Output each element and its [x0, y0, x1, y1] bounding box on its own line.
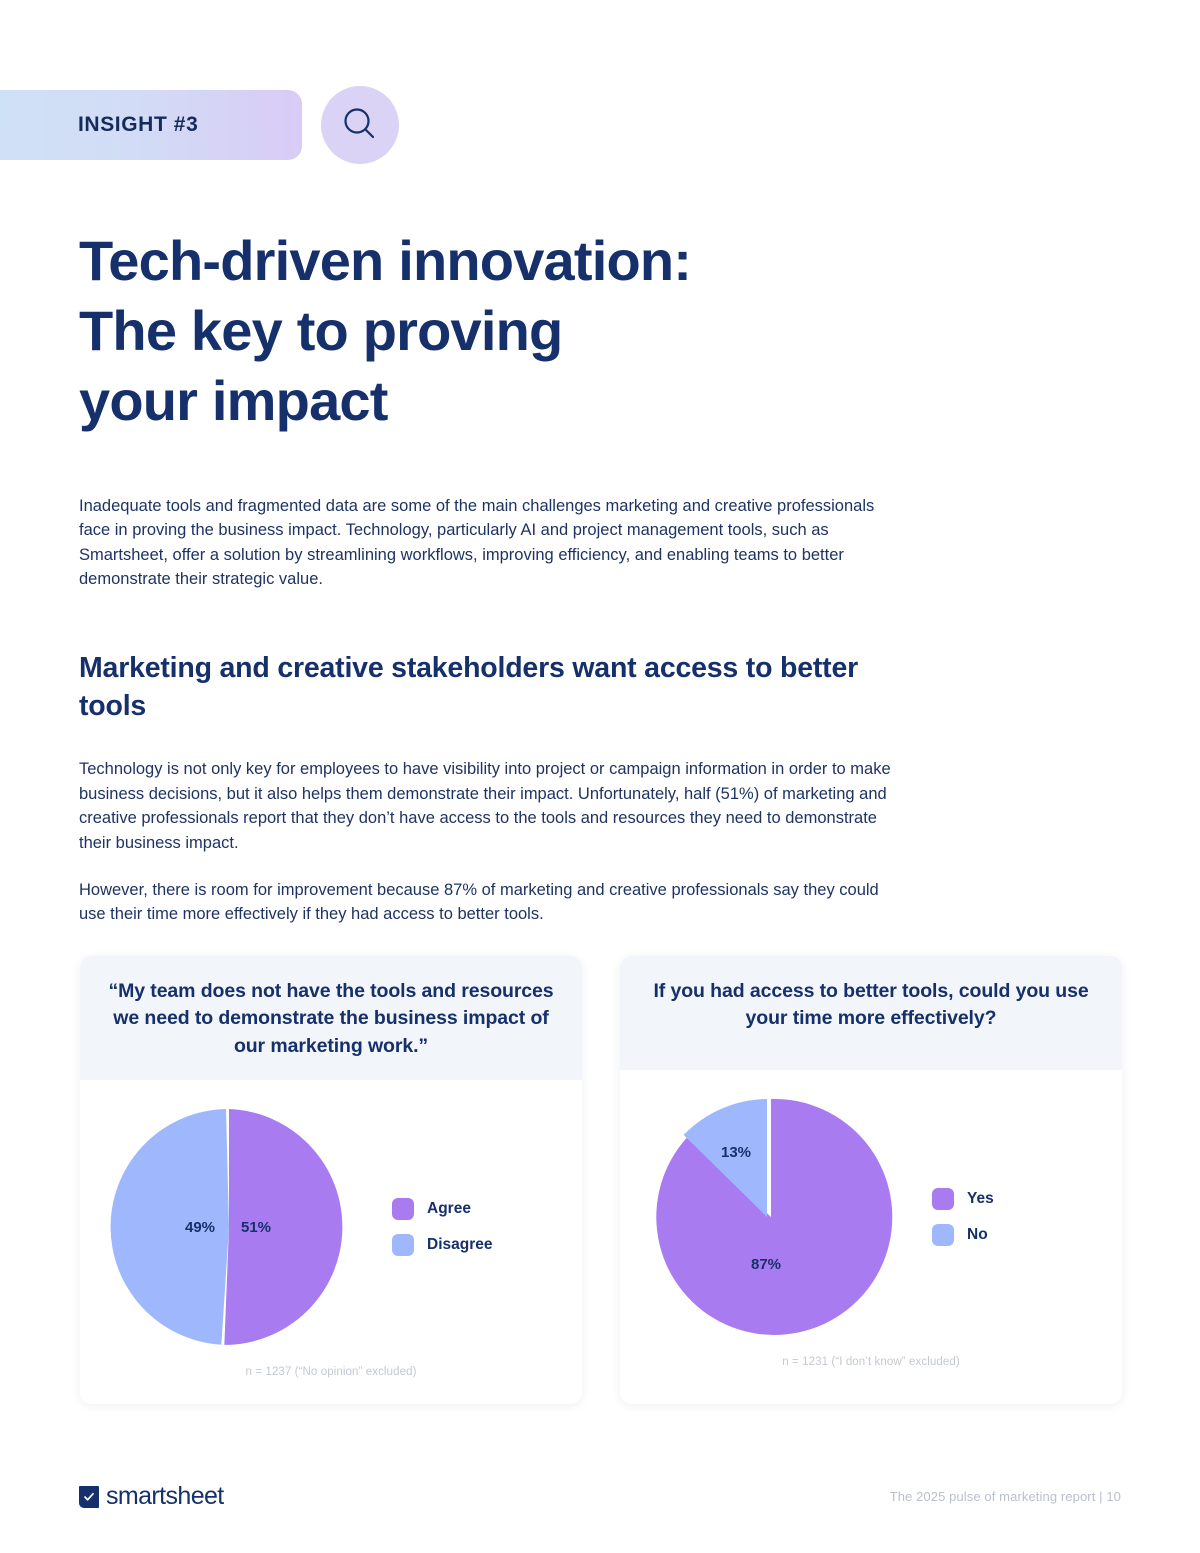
- legend-item-no[interactable]: No: [932, 1224, 994, 1246]
- checkmark-icon: [79, 1486, 99, 1508]
- section-paragraph-1: Technology is not only key for employees…: [79, 757, 899, 855]
- page-title-line-2: The key to proving: [79, 296, 1119, 366]
- magnifier-icon-circle: [321, 86, 399, 164]
- legend-item-yes[interactable]: Yes: [932, 1188, 994, 1210]
- chart-card-header-right: If you had access to better tools, could…: [620, 956, 1122, 1070]
- smartsheet-logo: smartsheet: [79, 1482, 224, 1511]
- chart-title-left: “My team does not have the tools and res…: [106, 978, 556, 1060]
- chart-title-right: If you had access to better tools, could…: [646, 978, 1096, 1033]
- section-paragraph-2: However, there is room for improvement b…: [79, 878, 899, 927]
- chart-card-header-left: “My team does not have the tools and res…: [80, 956, 582, 1080]
- legend-swatch-agree: [392, 1198, 414, 1220]
- chart-card-better-tools: If you had access to better tools, could…: [620, 956, 1122, 1404]
- insight-header: INSIGHT #3: [0, 86, 399, 164]
- pie-chart-left: 51% 49%: [104, 1102, 354, 1352]
- intro-paragraph: Inadequate tools and fragmented data are…: [79, 494, 879, 592]
- legend-label-disagree: Disagree: [427, 1236, 492, 1254]
- chart-legend-right: Yes No: [932, 1188, 994, 1246]
- page-footer: smartsheet The 2025 pulse of marketing r…: [79, 1482, 1121, 1511]
- pie-chart-right: 13% 87%: [644, 1092, 894, 1342]
- pie-value-label-disagree: 49%: [185, 1219, 215, 1236]
- legend-item-disagree[interactable]: Disagree: [392, 1234, 492, 1256]
- chart-note-right: n = 1231 (“I don’t know” excluded): [620, 1342, 1122, 1384]
- chart-note-left: n = 1237 (“No opinion” excluded): [80, 1352, 582, 1394]
- pie-value-label-yes: 87%: [751, 1256, 781, 1273]
- insight-badge-label: INSIGHT #3: [78, 113, 198, 137]
- chart-legend-left: Agree Disagree: [392, 1198, 492, 1256]
- chart-area-left: 51% 49% Agree Disagree: [80, 1080, 582, 1352]
- chart-card-body-right: 13% 87% Yes No n = 1231 (“I don’t know” …: [620, 1070, 1122, 1394]
- chart-cards-row: “My team does not have the tools and res…: [80, 956, 1122, 1404]
- legend-label-agree: Agree: [427, 1200, 471, 1218]
- insight-badge: INSIGHT #3: [0, 90, 302, 160]
- legend-label-yes: Yes: [967, 1190, 994, 1208]
- pie-value-label-no: 13%: [721, 1144, 751, 1161]
- section-heading: Marketing and creative stakeholders want…: [79, 650, 869, 726]
- page-title: Tech-driven innovation: The key to provi…: [79, 226, 1119, 436]
- main-content: Tech-driven innovation: The key to provi…: [79, 226, 1119, 927]
- chart-area-right: 13% 87% Yes No: [620, 1070, 1122, 1342]
- legend-swatch-yes: [932, 1188, 954, 1210]
- legend-swatch-no: [932, 1224, 954, 1246]
- legend-label-no: No: [967, 1226, 988, 1244]
- search-icon: [338, 103, 382, 147]
- page-title-line-3: your impact: [79, 366, 1119, 436]
- legend-item-agree[interactable]: Agree: [392, 1198, 492, 1220]
- chart-card-body-left: 51% 49% Agree Disagree n = 1237 (“No opi…: [80, 1080, 582, 1404]
- legend-swatch-disagree: [392, 1234, 414, 1256]
- footer-report-meta: The 2025 pulse of marketing report | 10: [890, 1489, 1121, 1504]
- pie-value-label-agree: 51%: [241, 1219, 271, 1236]
- chart-card-tools-and-resources: “My team does not have the tools and res…: [80, 956, 582, 1404]
- smartsheet-wordmark: smartsheet: [106, 1482, 224, 1511]
- page-title-line-1: Tech-driven innovation:: [79, 226, 1119, 296]
- intro-section: Inadequate tools and fragmented data are…: [79, 494, 1119, 592]
